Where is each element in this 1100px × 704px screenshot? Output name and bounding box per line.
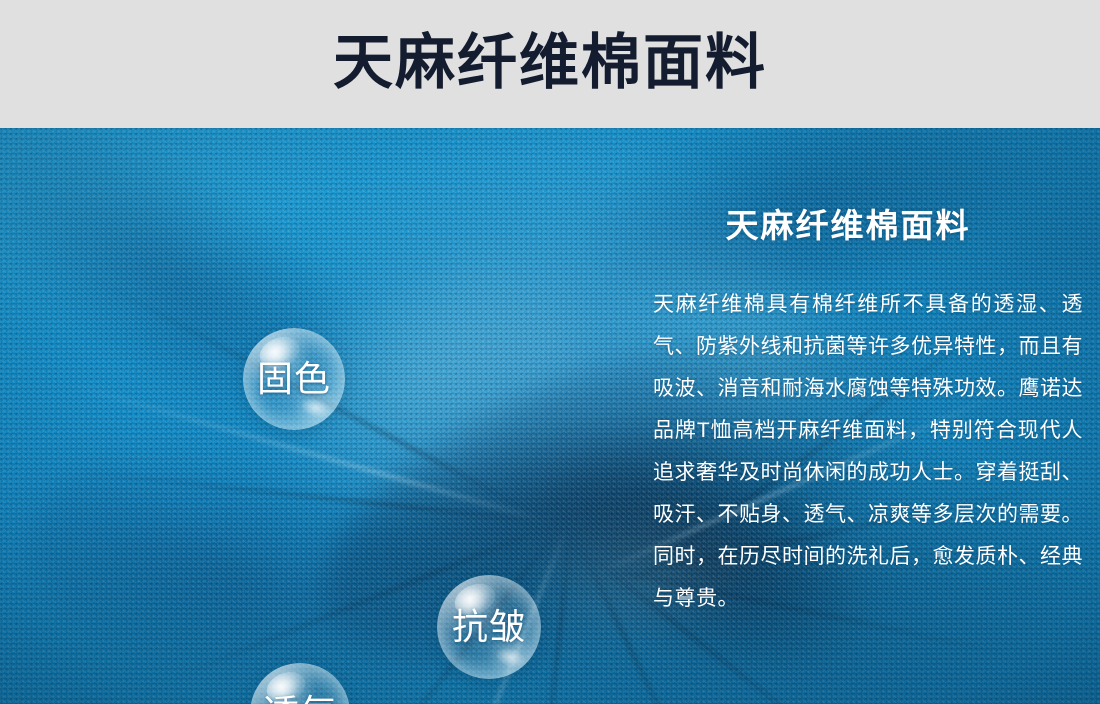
copy-heading: 天麻纤维棉面料 — [653, 206, 1083, 246]
bubble-label: 抗皱 — [452, 609, 526, 645]
fabric-hero-image: 固色 抗皱 透气 亲肤 天麻纤维棉面料 天麻纤维棉具有棉纤维所不具备的透湿、透气… — [0, 128, 1100, 704]
page-title: 天麻纤维棉面料 — [333, 33, 767, 93]
bubble-kang-zhou[interactable]: 抗皱 — [437, 575, 541, 679]
bubble-label: 固色 — [257, 361, 331, 397]
product-feature-banner: 天麻纤维棉面料 固色 抗皱 — [0, 0, 1100, 704]
bubble-label: 透气 — [263, 695, 337, 704]
header-band: 天麻纤维棉面料 — [0, 0, 1100, 128]
bubble-gu-se[interactable]: 固色 — [243, 328, 345, 430]
copy-body: 天麻纤维棉具有棉纤维所不具备的透湿、透气、防紫外线和抗菌等许多优异特性，而且有吸… — [653, 284, 1083, 620]
copy-block: 天麻纤维棉面料 天麻纤维棉具有棉纤维所不具备的透湿、透气、防紫外线和抗菌等许多优… — [653, 206, 1083, 620]
